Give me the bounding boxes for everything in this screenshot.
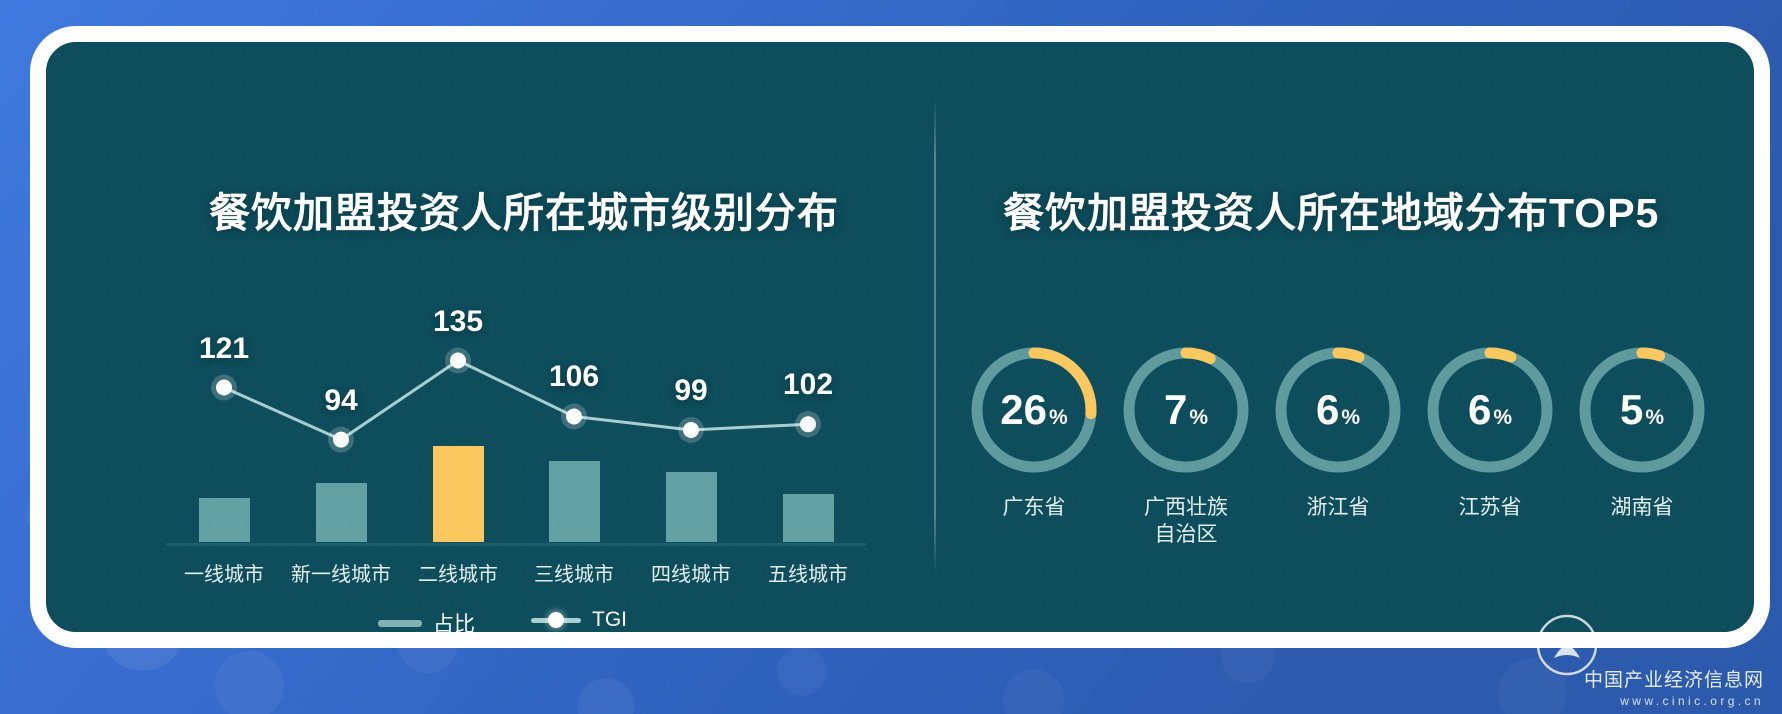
donut-unit: %	[1645, 406, 1664, 430]
donut-广西壮族自治区: 7%广西壮族 自治区	[1118, 342, 1254, 549]
donut-浙江省: 6%浙江省	[1270, 342, 1406, 521]
x-label-五线城市: 五线城市	[768, 558, 848, 587]
x-label-二线城市: 二线城市	[418, 558, 498, 587]
tgi-marker-五线城市[interactable]	[800, 416, 816, 432]
legend-item-tgi[interactable]: TGI	[531, 608, 627, 632]
slide-panel: 餐饮加盟投资人所在城市级别分布 餐饮加盟投资人所在地域分布TOP5 一线城市新一…	[46, 42, 1754, 632]
donut-ring: 6%	[1270, 342, 1406, 478]
tgi-marker-一线城市[interactable]	[216, 380, 232, 396]
donut-number: 6	[1468, 342, 1491, 478]
tgi-value-二线城市: 135	[433, 305, 483, 339]
tgi-polyline	[224, 361, 808, 440]
x-label-新一线城市: 新一线城市	[291, 558, 391, 587]
tgi-value-三线城市: 106	[549, 360, 599, 394]
slide-canvas: 餐饮加盟投资人所在城市级别分布 餐饮加盟投资人所在地域分布TOP5 一线城市新一…	[0, 0, 1782, 714]
bar-三线城市	[549, 461, 600, 542]
donut-unit: %	[1049, 406, 1068, 430]
donut-ring: 5%	[1574, 342, 1710, 478]
donut-center-value: 6%	[1270, 342, 1406, 478]
x-label-三线城市: 三线城市	[534, 558, 614, 587]
donut-unit: %	[1341, 406, 1360, 430]
legend-label-share: 占比	[433, 608, 475, 632]
watermark-site-name: 中国产业经济信息网	[1584, 665, 1764, 692]
donut-center-value: 6%	[1422, 342, 1558, 478]
donut-label: 广西壮族 自治区	[1118, 494, 1254, 549]
bar-二线城市	[433, 446, 484, 542]
donut-number: 7	[1164, 342, 1187, 478]
tgi-value-五线城市: 102	[783, 368, 833, 402]
donut-江苏省: 6%江苏省	[1422, 342, 1558, 521]
tgi-marker-新一线城市[interactable]	[333, 432, 349, 448]
tgi-value-新一线城市: 94	[324, 384, 357, 418]
tgi-value-四线城市: 99	[674, 374, 707, 408]
tgi-line-series	[166, 252, 866, 542]
chart-baseline	[166, 543, 866, 546]
donut-label: 湖南省	[1574, 494, 1710, 521]
left-chart-title: 餐饮加盟投资人所在城市级别分布	[209, 179, 839, 239]
tgi-marker-二线城市[interactable]	[450, 353, 466, 369]
donut-label: 江苏省	[1422, 494, 1558, 521]
donut-广东省: 26%广东省	[966, 342, 1102, 521]
donut-ring: 6%	[1422, 342, 1558, 478]
legend-item-share[interactable]: 占比	[378, 608, 475, 632]
x-label-一线城市: 一线城市	[184, 558, 264, 587]
tgi-marker-四线城市[interactable]	[683, 422, 699, 438]
tgi-marker-三线城市[interactable]	[566, 408, 582, 424]
donut-number: 6	[1316, 342, 1339, 478]
donut-ring: 7%	[1118, 342, 1254, 478]
donut-ring: 26%	[966, 342, 1102, 478]
bar-四线城市	[666, 472, 717, 542]
bar-一线城市	[199, 498, 250, 542]
legend-bar-swatch-icon	[378, 620, 422, 627]
chart-legend: 占比 TGI	[166, 602, 866, 632]
bar-新一线城市	[316, 483, 367, 542]
watermark: 中国产业经济信息网 www.cinic.org.cn	[1584, 665, 1764, 708]
legend-label-tgi: TGI	[592, 608, 627, 632]
region-donut-group: 26%广东省7%广西壮族 自治区6%浙江省6%江苏省5%湖南省	[966, 342, 1726, 602]
donut-center-value: 26%	[966, 342, 1102, 478]
donut-label: 广东省	[966, 494, 1102, 521]
donut-number: 26	[1000, 342, 1047, 478]
panel-divider	[934, 102, 936, 570]
donut-label: 浙江省	[1270, 494, 1406, 521]
donut-湖南省: 5%湖南省	[1574, 342, 1710, 521]
donut-unit: %	[1189, 406, 1208, 430]
watermark-url: www.cinic.org.cn	[1584, 694, 1764, 708]
donut-unit: %	[1493, 406, 1512, 430]
x-label-四线城市: 四线城市	[651, 558, 731, 587]
right-chart-title: 餐饮加盟投资人所在地域分布TOP5	[1003, 179, 1659, 239]
donut-number: 5	[1620, 342, 1643, 478]
bar-五线城市	[783, 494, 834, 542]
city-tier-combo-chart	[166, 252, 866, 542]
donut-center-value: 7%	[1118, 342, 1254, 478]
legend-line-swatch-icon	[531, 618, 581, 623]
donut-center-value: 5%	[1574, 342, 1710, 478]
tgi-value-一线城市: 121	[199, 332, 249, 366]
